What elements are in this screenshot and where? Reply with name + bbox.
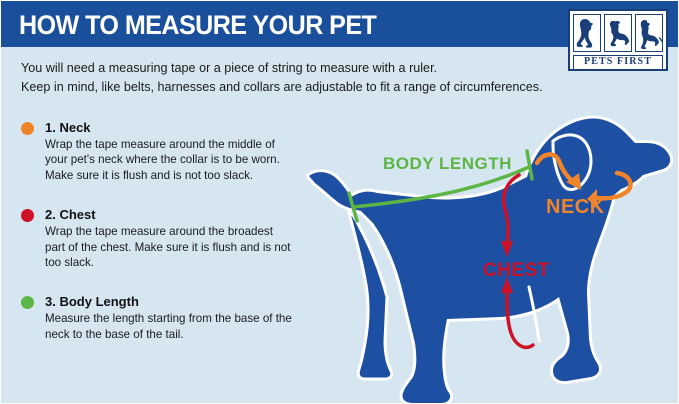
step-body-length-body: Measure the length starting from the bas… <box>45 311 293 342</box>
intro-text: You will need a measuring tape or a piec… <box>21 59 561 97</box>
intro-line-2: Keep in mind, like belts, harnesses and … <box>21 78 561 97</box>
measurement-steps-list: 1. Neck Wrap the tape measure around the… <box>21 119 293 365</box>
logo-dog-panels <box>573 14 663 52</box>
dog-measurement-diagram: BODY LENGTH NECK CHEST <box>291 101 679 404</box>
step-neck: 1. Neck Wrap the tape measure around the… <box>21 119 293 183</box>
step-body-length-title: 3. Body Length <box>45 293 293 310</box>
step-neck-body: Wrap the tape measure around the middle … <box>45 137 293 183</box>
step-neck-title: 1. Neck <box>45 119 293 136</box>
neck-label: NECK <box>546 196 605 218</box>
body-length-label: BODY LENGTH <box>383 154 512 173</box>
page-title: HOW TO MEASURE YOUR PET <box>19 10 376 40</box>
step-body-length: 3. Body Length Measure the length starti… <box>21 293 293 342</box>
step-chest-body: Wrap the tape measure around the broades… <box>45 224 293 270</box>
step-chest: 2. Chest Wrap the tape measure around th… <box>21 206 293 270</box>
bullet-neck <box>21 122 34 135</box>
bullet-body-length <box>21 296 34 309</box>
pets-first-logo: PETS FIRST <box>568 9 668 71</box>
dog-begging-icon <box>604 14 632 52</box>
logo-wordmark: PETS FIRST <box>573 55 663 70</box>
chest-label: CHEST <box>483 260 550 281</box>
dog-sitting-icon <box>573 14 601 52</box>
bullet-chest <box>21 209 34 222</box>
step-chest-title: 2. Chest <box>45 206 293 223</box>
intro-line-1: You will need a measuring tape or a piec… <box>21 59 561 78</box>
dog-standing-icon <box>635 14 663 52</box>
pet-measuring-guide-page: HOW TO MEASURE YOUR PET PETS FIRST <box>0 0 679 404</box>
